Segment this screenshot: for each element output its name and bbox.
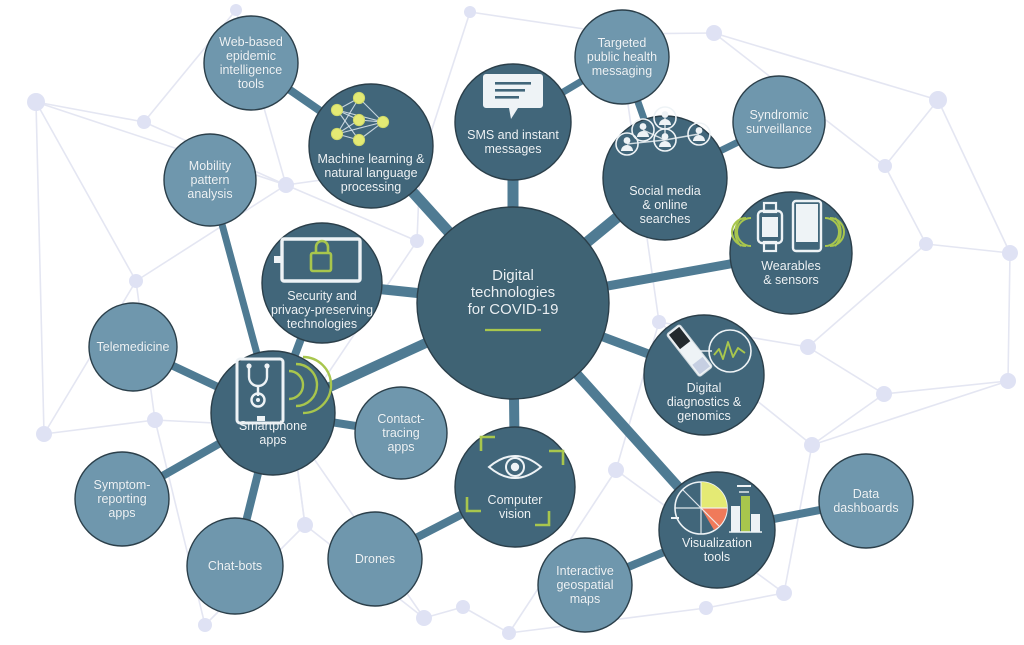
node-syndromic-surveillance[interactable]	[733, 76, 825, 168]
node-circle-mobility-pattern-analysis[interactable]	[164, 134, 256, 226]
node-circle-web-based-epidemic-intelligence-tools[interactable]	[204, 16, 298, 110]
node-circle-syndromic-surveillance[interactable]	[733, 76, 825, 168]
node-data-dashboards[interactable]	[819, 454, 913, 548]
node-symptom-reporting-apps[interactable]	[75, 452, 169, 546]
node-circle-chat-bots[interactable]	[187, 518, 283, 614]
node-circle-computer-vision[interactable]	[455, 427, 575, 547]
node-digital-diagnostics-genomics[interactable]	[644, 315, 764, 435]
node-machine-learning-natural-language-processing[interactable]	[309, 84, 433, 208]
node-circle-telemedicine[interactable]	[89, 303, 177, 391]
node-circle-drones[interactable]	[328, 512, 422, 606]
node-circle-machine-learning-natural-language-processing[interactable]	[309, 84, 433, 208]
node-circle-smartphone-apps[interactable]	[211, 351, 335, 475]
node-targeted-public-health-messaging[interactable]	[575, 10, 669, 104]
node-circle-symptom-reporting-apps[interactable]	[75, 452, 169, 546]
node-interactive-geospatial-maps[interactable]	[538, 538, 632, 632]
node-circle-wearables-sensors[interactable]	[730, 192, 852, 314]
node-circle-digital-technologies-for-covid-19[interactable]	[417, 207, 609, 399]
node-circle-contact-tracing-apps[interactable]	[355, 387, 447, 479]
node-mobility-pattern-analysis[interactable]	[164, 134, 256, 226]
node-contact-tracing-apps[interactable]	[355, 387, 447, 479]
node-telemedicine[interactable]	[89, 303, 177, 391]
node-chat-bots[interactable]	[187, 518, 283, 614]
node-smartphone-apps[interactable]	[211, 351, 335, 475]
node-circle-targeted-public-health-messaging[interactable]	[575, 10, 669, 104]
node-computer-vision[interactable]	[455, 427, 575, 547]
node-wearables-sensors[interactable]	[730, 192, 852, 314]
node-circle-data-dashboards[interactable]	[819, 454, 913, 548]
node-circle-interactive-geospatial-maps[interactable]	[538, 538, 632, 632]
node-layer	[0, 0, 1024, 645]
node-drones[interactable]	[328, 512, 422, 606]
node-web-based-epidemic-intelligence-tools[interactable]	[204, 16, 298, 110]
node-digital-technologies-for-covid-19[interactable]	[417, 207, 609, 399]
diagram-canvas: Web-based epidemic intelligence toolsMac…	[0, 0, 1024, 645]
node-circle-digital-diagnostics-genomics[interactable]	[644, 315, 764, 435]
